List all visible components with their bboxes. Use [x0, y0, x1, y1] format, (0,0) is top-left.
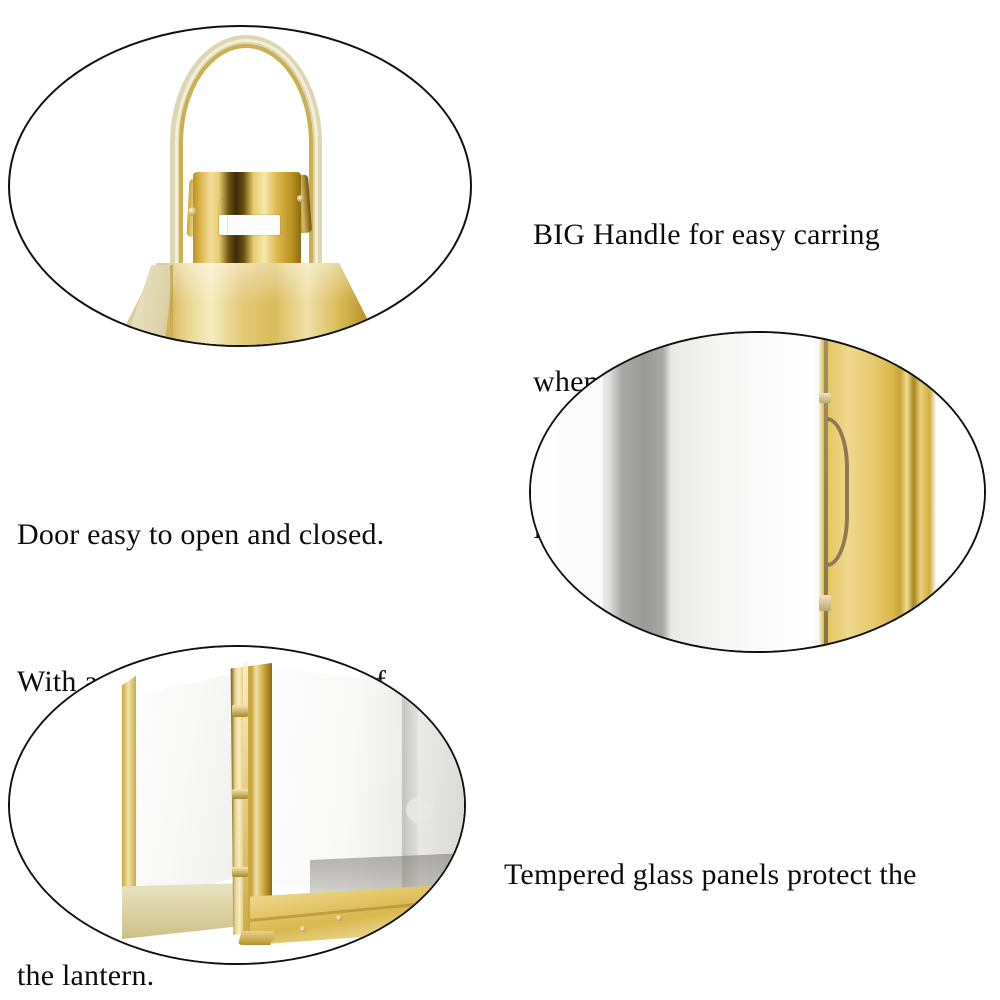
lantern-base-right: [250, 883, 464, 945]
photo-clasp-detail: [529, 331, 986, 653]
collar-rivet-right: [297, 195, 304, 202]
glass-left-edge: [531, 333, 603, 651]
callout-door-line-1: Door easy to open and closed.: [17, 510, 421, 559]
lantern-hinge-top: [232, 705, 248, 717]
photo-corner-detail: [8, 645, 466, 965]
lantern-hinge-bottom: [232, 867, 248, 877]
infographic-canvas: BIG Handle for easy carring when walking…: [0, 0, 1000, 1000]
collar-cutout-bar: [219, 200, 227, 236]
lantern-glass-left: [128, 673, 238, 905]
base-rivet-2: [336, 915, 342, 921]
lantern-base-left: [122, 883, 246, 939]
glass-reflection-dot: [406, 797, 432, 823]
clasp-pin-bottom: [819, 595, 831, 611]
photo-corner-inner: [10, 647, 464, 963]
callout-handle-line-1: BIG Handle for easy carring: [533, 210, 880, 259]
base-rivet-1: [300, 926, 306, 932]
photo-handle-detail: [8, 25, 472, 347]
lantern-hinge-middle: [232, 789, 248, 799]
clasp-pin-top: [819, 393, 831, 403]
lantern-post-highlight: [243, 661, 248, 939]
lantern-frame-left: [122, 671, 136, 909]
photo-clasp-inner: [531, 333, 984, 651]
photo-handle-inner: [10, 27, 470, 345]
lantern-roof-seam: [170, 265, 173, 345]
callout-glass: Tempered glass panels protect the decora…: [504, 752, 917, 1000]
callout-glass-line-1: Tempered glass panels protect the: [504, 850, 917, 899]
collar-rivet-left: [188, 207, 197, 216]
lantern-corner-post: [228, 663, 272, 935]
collar-cutout: [219, 215, 280, 235]
lantern-foot: [238, 931, 274, 945]
